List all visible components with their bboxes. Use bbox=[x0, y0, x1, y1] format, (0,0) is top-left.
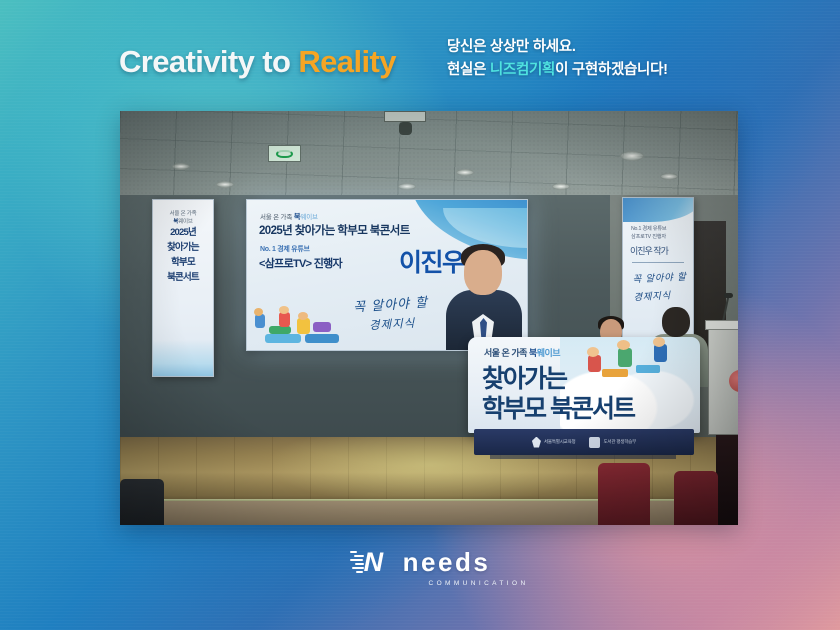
screen-handwriting-line-1: 꼭 알아야 할 bbox=[352, 291, 428, 315]
left-banner-eyebrow: 서울 온 가족 북웨이브 bbox=[157, 209, 209, 225]
subcopy-line-2: 현실은 니즈컴기획이 구현하겠습니다! bbox=[447, 59, 668, 82]
ceiling-downlight bbox=[660, 173, 678, 180]
podium-emblem bbox=[729, 370, 738, 392]
left-banner-illustration bbox=[153, 340, 213, 376]
microphone-icon bbox=[724, 293, 733, 298]
right-banner-eyebrow-line-2: 삼프로TV 진행자 bbox=[631, 234, 667, 242]
screen-kids-illustration bbox=[253, 300, 349, 348]
subcopy-line-1: 당신은 상상만 하세요. bbox=[447, 36, 668, 59]
standee-eyebrow-wave: 웨이브 bbox=[537, 348, 560, 358]
subcopy-line-2-pre: 현실은 bbox=[447, 62, 490, 78]
standee-kids-illustration bbox=[584, 339, 696, 383]
needs-logo-letter: N bbox=[364, 548, 392, 576]
ceiling-downlight bbox=[398, 183, 416, 190]
sponsor-logo-2: 도서관 평생학습부 bbox=[589, 437, 636, 448]
emergency-exit-sign-icon bbox=[268, 145, 301, 162]
ceiling-downlight bbox=[216, 181, 234, 188]
header: Creativity to Reality 당신은 상상만 하세요. 현실은 니… bbox=[0, 0, 840, 110]
standee-eyebrow-pre: 서울 온 가족 bbox=[484, 348, 529, 358]
footer: N needs COMMUNICATION bbox=[0, 538, 840, 586]
podium-top bbox=[705, 320, 738, 330]
needs-logo: N needs COMMUNICATION bbox=[350, 547, 491, 577]
needs-logo-tagline: COMMUNICATION bbox=[429, 580, 529, 587]
standee-line-2: 학부모 북콘서트 bbox=[482, 389, 634, 425]
screen-subtitle-1: No. 1 경제 유튜브 bbox=[260, 244, 310, 254]
needs-logo-mark-icon: N bbox=[350, 547, 394, 577]
needs-logo-wordmark: needs bbox=[403, 549, 491, 575]
screen-eyebrow-pre: 서울 온 가족 bbox=[260, 214, 294, 221]
left-banner-line-3: 학부모 bbox=[157, 255, 209, 270]
right-banner-eyebrow-line-1: No.1 경제 유튜브 bbox=[631, 226, 667, 234]
right-banner-handwriting-line-1: 꼭 알아야 할 bbox=[632, 269, 687, 289]
ceiling-downlight bbox=[456, 169, 474, 176]
right-banner-handwriting: 꼭 알아야 할 경제지식 bbox=[632, 269, 688, 307]
standee-base: 서울특별시교육청 도서관 평생학습부 bbox=[474, 429, 694, 455]
standee-eyebrow: 서울 온 가족 북웨이브 bbox=[484, 346, 560, 359]
subcopy-brand-name: 니즈컴기획 bbox=[490, 62, 555, 78]
page-title: Creativity to Reality bbox=[119, 44, 396, 80]
subcopy-line-2-post: 이 구현하겠습니다! bbox=[555, 62, 668, 78]
library-division-icon bbox=[589, 437, 600, 448]
headline-accent: Reality bbox=[298, 44, 395, 79]
screen-subtitle-2: <삼프로TV> 진행자 bbox=[259, 255, 342, 271]
podium bbox=[708, 325, 738, 435]
left-banner-eyebrow-pre: 서울 온 가족 bbox=[170, 211, 197, 217]
headline-main: Creativity to bbox=[119, 44, 298, 79]
screen-title: 2025년 찾아가는 학부모 북콘서트 bbox=[259, 222, 410, 238]
left-banner-line-1: 2025년 bbox=[157, 225, 209, 240]
standee-board: 서울 온 가족 북웨이브 찾아가는 학부모 북콘서트 bbox=[468, 337, 700, 433]
seat-left bbox=[120, 479, 164, 525]
projection-screen: 서울 온 가족 북웨이브 2025년 찾아가는 학부모 북콘서트 No. 1 경… bbox=[246, 199, 528, 351]
left-banner-line-2: 찾아가는 bbox=[157, 240, 209, 255]
right-banner-wave-graphic bbox=[622, 197, 694, 222]
right-banner-divider bbox=[632, 262, 684, 263]
ceiling-downlight bbox=[620, 151, 644, 161]
ceiling-downlight bbox=[172, 163, 190, 170]
ceiling-projector-icon bbox=[384, 111, 426, 122]
right-banner-handwriting-line-2: 경제지식 bbox=[633, 286, 688, 306]
right-banner-name-text: 이진우 bbox=[630, 246, 652, 256]
screen-handwriting-line-2: 경제지식 bbox=[369, 315, 416, 333]
header-subcopy: 당신은 상상만 하세요. 현실은 니즈컴기획이 구현하겠습니다! bbox=[447, 36, 668, 83]
right-banner-name: 이진우 작가 bbox=[630, 242, 668, 257]
screen-eyebrow-wave: 웨이브 bbox=[300, 214, 317, 221]
seoul-education-office-icon bbox=[532, 437, 541, 448]
ceiling-texture bbox=[120, 111, 738, 199]
seat-right-2 bbox=[674, 471, 718, 525]
right-banner-eyebrow: No.1 경제 유튜브 삼프로TV 진행자 bbox=[631, 226, 667, 242]
standee-eyebrow-book: 북 bbox=[529, 348, 537, 358]
left-vertical-banner: 서울 온 가족 북웨이브 2025년 찾아가는 학부모 북콘서트 bbox=[152, 199, 214, 377]
screen-eyebrow: 서울 온 가족 북웨이브 bbox=[260, 211, 318, 222]
event-photo: 서울 온 가족 북웨이브 2025년 찾아가는 학부모 북콘서트 No. 1 경… bbox=[120, 111, 738, 525]
standee-legs bbox=[490, 453, 676, 459]
event-standee: 서울 온 가족 북웨이브 찾아가는 학부모 북콘서트 서울특별시교육청 도서관 … bbox=[468, 337, 700, 459]
ceiling bbox=[120, 111, 738, 199]
left-banner-line-4: 북콘서트 bbox=[157, 270, 209, 285]
ceiling-downlight bbox=[552, 183, 570, 190]
screen-speaker-portrait bbox=[445, 238, 523, 350]
sponsor-logo-1-label: 서울특별시교육청 bbox=[544, 439, 576, 445]
right-banner-name-suffix: 작가 bbox=[652, 246, 668, 256]
sponsor-logo-2-label: 도서관 평생학습부 bbox=[603, 439, 636, 445]
seat-right-1 bbox=[598, 463, 650, 525]
sponsor-logo-1: 서울특별시교육청 bbox=[532, 437, 576, 448]
